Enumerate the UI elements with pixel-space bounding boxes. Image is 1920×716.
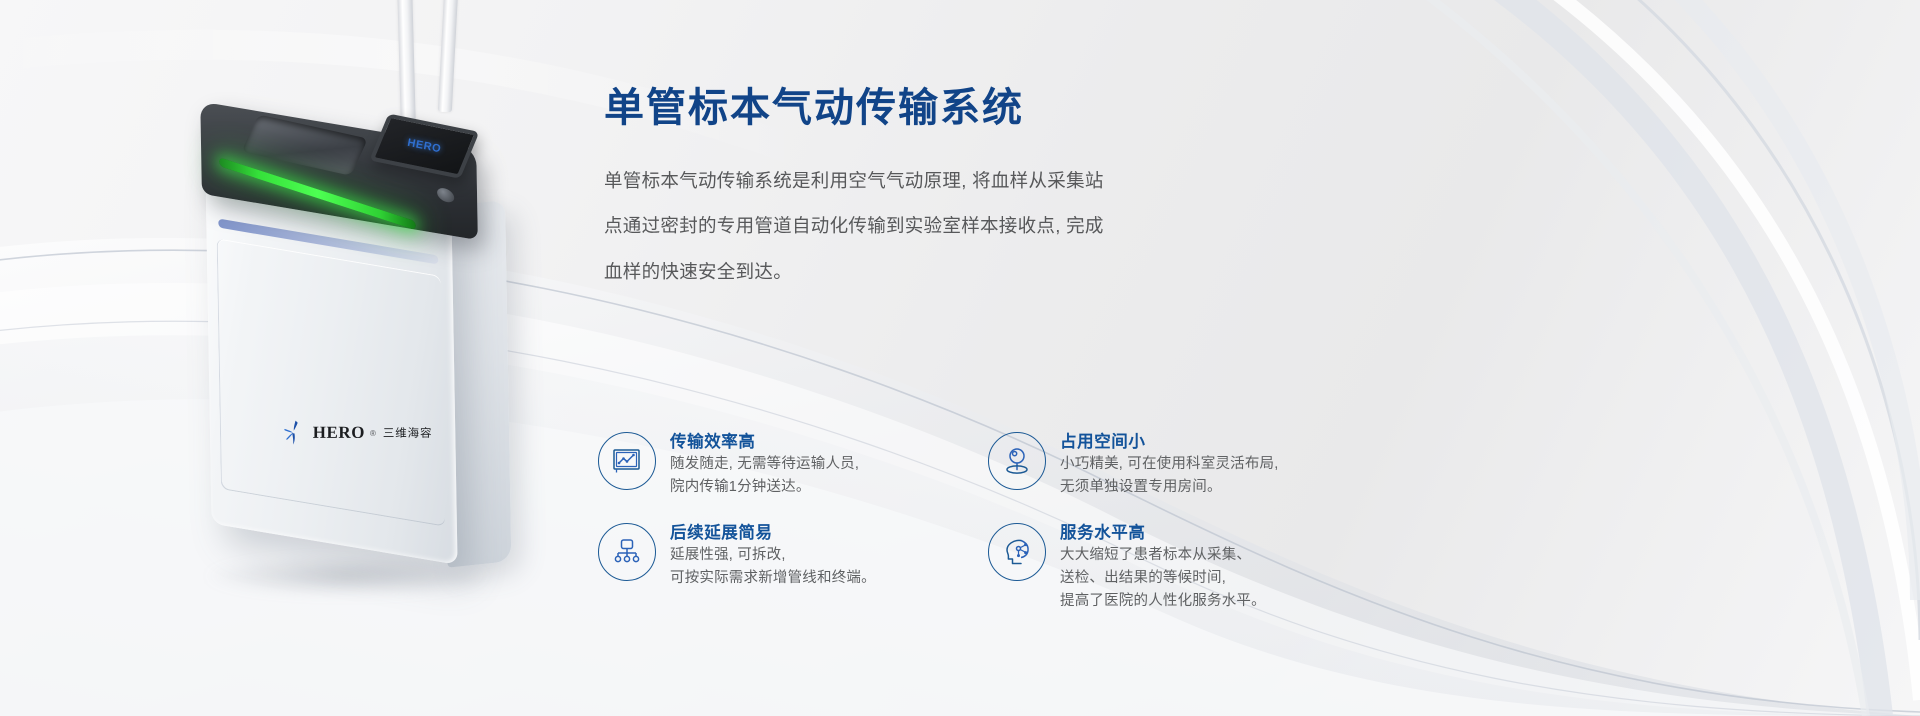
- feature-text: 服务水平高 大大缩短了患者标本从采集、 送检、出结果的等候时间, 提高了医院的人…: [1060, 521, 1266, 613]
- feature-title: 占用空间小: [1060, 431, 1278, 453]
- feature-item-small-footprint: 占用空间小 小巧精美, 可在使用科室灵活布局, 无须单独设置专用房间。: [988, 430, 1298, 499]
- feature-title: 传输效率高: [670, 431, 859, 453]
- sample-insert-slot: [241, 114, 368, 175]
- feature-list: 传输效率高 随发随走, 无需等待运输人员, 院内传输1分钟送达。 占用空间小 小…: [598, 430, 1298, 613]
- chart-trend-icon: [598, 432, 656, 490]
- feature-line: 提高了医院的人性化服务水平。: [1060, 590, 1266, 613]
- pneumatic-tube-right: [438, 0, 458, 112]
- feature-line: 随发随走, 无需等待运输人员,: [670, 453, 859, 476]
- feature-title: 后续延展简易: [670, 522, 876, 544]
- device-body: HERO ® 三维海容 HERO: [204, 102, 511, 584]
- brand-wordmark: HERO: [313, 423, 365, 443]
- feature-line: 大大缩短了患者标本从采集、: [1060, 544, 1266, 567]
- feature-item-service-level: 服务水平高 大大缩短了患者标本从采集、 送检、出结果的等候时间, 提高了医院的人…: [988, 521, 1298, 613]
- hero-petal-icon: [282, 420, 308, 446]
- feature-title: 服务水平高: [1060, 522, 1266, 544]
- network-hierarchy-icon: [598, 523, 656, 581]
- device-knob: [437, 186, 454, 204]
- feature-line: 送检、出结果的等候时间,: [1060, 567, 1266, 590]
- description-line: 单管标本气动传输系统是利用空气气动原理, 将血样从采集站: [604, 158, 1264, 203]
- feature-line: 小巧精美, 可在使用科室灵活布局,: [1060, 453, 1278, 476]
- feature-text: 后续延展简易 延展性强, 可拆改, 可按实际需求新增管线和终端。: [670, 521, 876, 590]
- brand-registered-mark: ®: [370, 428, 376, 437]
- screen-logo-text: HERO: [407, 137, 442, 156]
- device-display-screen: HERO: [369, 114, 479, 179]
- feature-line: 院内传输1分钟送达。: [670, 476, 859, 499]
- feature-line: 可按实际需求新增管线和终端。: [670, 567, 876, 590]
- content-column: 单管标本气动传输系统 单管标本气动传输系统是利用空气气动原理, 将血样从采集站 …: [604, 84, 1324, 294]
- space-pin-icon: [988, 432, 1046, 490]
- description-line: 血样的快速安全到达。: [604, 249, 1264, 294]
- description-line: 点通过密封的专用管道自动化传输到实验室样本接收点, 完成: [604, 203, 1264, 248]
- feature-line: 延展性强, 可拆改,: [670, 544, 876, 567]
- hero-banner: HERO ® 三维海容 HERO 单管标本气动传输系统 单管标本气动传输系统是利…: [0, 0, 1920, 716]
- page-title: 单管标本气动传输系统: [604, 84, 1324, 132]
- feature-item-transfer-efficiency: 传输效率高 随发随走, 无需等待运输人员, 院内传输1分钟送达。: [598, 430, 988, 499]
- pneumatic-tube-left: [397, 0, 415, 122]
- device-door-seam: [217, 238, 445, 526]
- feature-line: 无须单独设置专用房间。: [1060, 476, 1278, 499]
- feature-text: 占用空间小 小巧精美, 可在使用科室灵活布局, 无须单独设置专用房间。: [1060, 430, 1278, 499]
- brand-chinese-name: 三维海容: [383, 425, 432, 441]
- page-description: 单管标本气动传输系统是利用空气气动原理, 将血样从采集站 点通过密封的专用管道自…: [604, 158, 1264, 294]
- device-brand-logo: HERO ® 三维海容: [282, 420, 432, 446]
- feature-text: 传输效率高 随发随走, 无需等待运输人员, 院内传输1分钟送达。: [670, 430, 859, 499]
- smart-head-icon: [988, 523, 1046, 581]
- feature-item-easy-expansion: 后续延展简易 延展性强, 可拆改, 可按实际需求新增管线和终端。: [598, 521, 988, 613]
